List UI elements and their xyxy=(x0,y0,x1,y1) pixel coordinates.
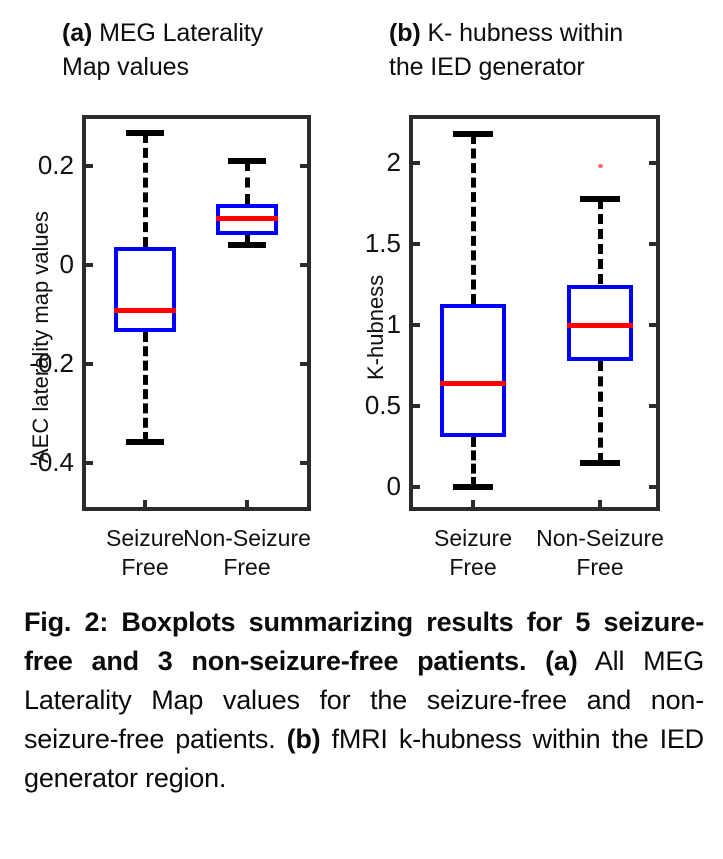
whisker-upper-a-1 xyxy=(245,161,250,204)
y-tick-label-b-1: 1.5 xyxy=(365,230,401,256)
y-tick-label-a-3: -0.4 xyxy=(29,449,74,475)
whisker-lower-a-0 xyxy=(143,332,148,442)
y-tick-a-1 xyxy=(82,263,93,267)
panel-b-title-line1: K- hubness within xyxy=(427,19,623,47)
whisker-cap-upper-a-0 xyxy=(126,130,164,136)
whisker-cap-upper-b-1 xyxy=(580,196,621,202)
caption-tag-a: (a) xyxy=(545,646,577,676)
boxplot-panel-a xyxy=(82,115,311,511)
x-category-label-b-1: Non-SeizureFree xyxy=(532,524,668,582)
x-tick-b-0 xyxy=(471,500,475,511)
x-category-line2-a-0: Free xyxy=(121,554,168,580)
caption-tag-b: (b) xyxy=(287,724,321,754)
panel-a-title-line2: Map values xyxy=(62,53,189,81)
x-tick-a-0 xyxy=(143,500,147,511)
y-tick-right-b-1 xyxy=(649,242,660,246)
panel-b-y-axis-title: K-hubness xyxy=(365,275,387,380)
figure-caption: Fig. 2: Boxplots summarizing results for… xyxy=(24,603,704,798)
whisker-cap-lower-a-0 xyxy=(126,439,164,445)
y-tick-a-2 xyxy=(82,362,93,366)
whisker-cap-upper-a-1 xyxy=(228,158,266,164)
median-line-a-0 xyxy=(114,308,176,313)
panel-b-plot-area xyxy=(409,115,660,511)
y-tick-right-a-2 xyxy=(300,362,311,366)
y-tick-label-a-2: -0.2 xyxy=(29,350,74,376)
x-category-line1-a-1: Non-Seizure xyxy=(183,525,311,551)
whisker-cap-lower-b-0 xyxy=(453,484,494,490)
x-category-line1-b-1: Non-Seizure xyxy=(536,525,664,551)
y-tick-right-b-3 xyxy=(649,404,660,408)
whisker-cap-lower-a-1 xyxy=(228,242,266,248)
y-tick-label-b-3: 0.5 xyxy=(365,392,401,418)
x-category-line2-b-1: Free xyxy=(576,554,623,580)
x-tick-b-1 xyxy=(598,500,602,511)
whisker-upper-b-0 xyxy=(471,134,476,304)
boxplot-panel-b xyxy=(409,115,660,511)
panel-b-title-line2: the IED generator xyxy=(389,53,585,81)
y-tick-label-b-4: 0 xyxy=(387,473,401,499)
whisker-lower-b-1 xyxy=(598,361,603,463)
whisker-lower-b-0 xyxy=(471,437,476,487)
panel-b-title: (b) K- hubness within the IED generator xyxy=(389,16,709,84)
x-category-line2-a-1: Free xyxy=(223,554,270,580)
whisker-cap-upper-b-0 xyxy=(453,131,494,137)
y-tick-b-3 xyxy=(409,404,420,408)
panel-a-title: (a) MEG Laterality Map values xyxy=(62,16,362,84)
outlier-b-1-0 xyxy=(598,164,603,168)
y-tick-right-a-3 xyxy=(300,461,311,465)
y-tick-a-0 xyxy=(82,164,93,168)
x-category-line1-b-0: Seizure xyxy=(434,525,512,551)
x-category-line2-b-0: Free xyxy=(449,554,496,580)
y-tick-right-a-0 xyxy=(300,164,311,168)
y-tick-right-b-2 xyxy=(649,323,660,327)
whisker-cap-lower-b-1 xyxy=(580,460,621,466)
y-tick-b-0 xyxy=(409,161,420,165)
y-tick-label-a-1: 0 xyxy=(60,251,74,277)
x-category-label-a-1: Non-SeizureFree xyxy=(182,524,312,582)
whisker-upper-b-1 xyxy=(598,199,603,285)
y-tick-b-4 xyxy=(409,485,420,489)
y-tick-b-2 xyxy=(409,323,420,327)
figure-root: (a) MEG Laterality Map values (b) K- hub… xyxy=(0,0,723,859)
panel-a-y-axis-title: AEC laterality map values xyxy=(30,211,52,463)
y-tick-a-3 xyxy=(82,461,93,465)
median-line-a-1 xyxy=(216,216,278,221)
median-line-b-0 xyxy=(440,381,506,386)
y-tick-b-1 xyxy=(409,242,420,246)
y-tick-right-a-1 xyxy=(300,263,311,267)
x-tick-a-1 xyxy=(245,500,249,511)
y-tick-right-b-4 xyxy=(649,485,660,489)
box-iqr-b-0 xyxy=(440,304,506,437)
median-line-b-1 xyxy=(567,323,633,328)
panel-a-title-line1: MEG Laterality xyxy=(99,19,263,47)
y-tick-label-b-2: 1 xyxy=(387,311,401,337)
x-category-label-b-0: SeizureFree xyxy=(405,524,541,582)
y-tick-right-b-0 xyxy=(649,161,660,165)
whisker-upper-a-0 xyxy=(143,133,148,247)
y-tick-label-b-0: 2 xyxy=(387,149,401,175)
panel-b-tag: (b) xyxy=(389,19,421,47)
panel-a-tag: (a) xyxy=(62,19,92,47)
panel-a-plot-area xyxy=(82,115,311,511)
x-category-line1-a-0: Seizure xyxy=(106,525,184,551)
y-tick-label-a-0: 0.2 xyxy=(38,152,74,178)
box-iqr-a-0 xyxy=(114,247,176,332)
